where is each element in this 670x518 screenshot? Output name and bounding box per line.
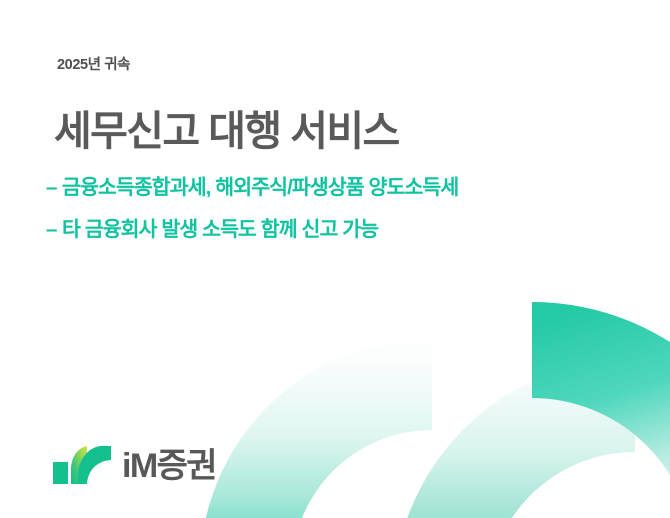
brand-wordmark: iM증권: [122, 449, 216, 483]
dash-icon: –: [46, 178, 62, 199]
poster-content: 2025년 귀속 세무신고 대행 서비스 – 금융소득종합과세, 해외주식/파생…: [0, 0, 670, 518]
list-item: – 금융소득종합과세, 해외주식/파생상품 양도소득세: [46, 178, 646, 199]
logo-square: [53, 462, 68, 484]
list-item-label: 금융소득종합과세, 해외주식/파생상품 양도소득세: [62, 178, 458, 199]
list-item: – 타 금융회사 발생 소득도 함께 신고 가능: [46, 220, 646, 241]
poster-eyebrow: 2025년 귀속: [57, 58, 130, 73]
dash-icon: –: [46, 220, 62, 241]
list-item-label: 타 금융회사 발생 소득도 함께 신고 가능: [62, 220, 378, 241]
brand-logo: iM증권: [53, 446, 216, 484]
promo-poster: 2025년 귀속 세무신고 대행 서비스 – 금융소득종합과세, 해외주식/파생…: [0, 0, 670, 518]
im-securities-logo-mark-icon: [53, 446, 111, 484]
page-title: 세무신고 대행 서비스: [54, 107, 399, 155]
feature-bullet-list: – 금융소득종합과세, 해외주식/파생상품 양도소득세 – 타 금융회사 발생 …: [46, 178, 646, 261]
